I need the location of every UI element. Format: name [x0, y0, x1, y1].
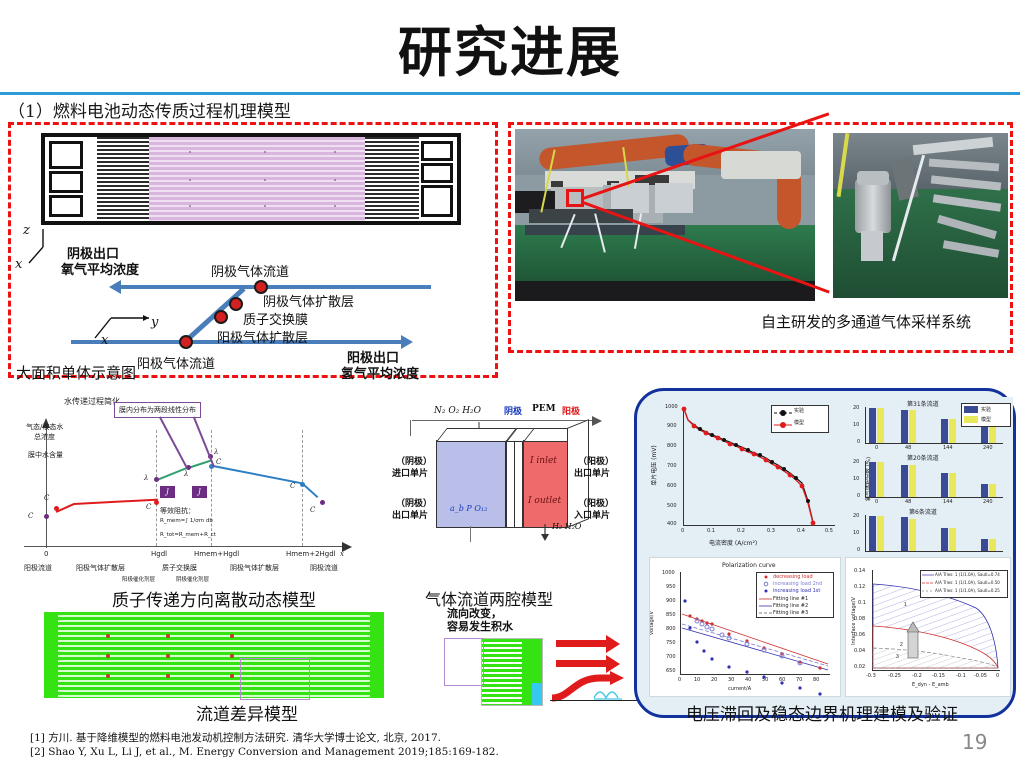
chart-cell-polarization: 1000 900 800 700 600 500 400 0 0.1 0.2 0…	[651, 399, 845, 551]
label-anode-channel: 阳极气体流道	[137, 353, 215, 372]
bar-chart-title-20: 第20条流道	[907, 453, 939, 462]
title-divider	[0, 92, 1020, 95]
water-region-anode-gdl: 阳极气体扩散层	[76, 563, 125, 573]
section-subtitle: （1）燃料电池动态传质过程机理模型	[8, 97, 291, 122]
water-gridline-mem-gdl	[211, 430, 212, 546]
bar-xtick-0-a: 0	[875, 445, 878, 451]
polcurve-legend-3: Fitting line #1	[773, 596, 808, 602]
polcurve-legend-1: increasing load 2nd	[773, 581, 822, 587]
water-chart-caption: 质子传递方向离散动态模型	[112, 586, 316, 611]
bar-chart-title-6: 第6条流道	[909, 507, 937, 516]
water-label-lambda4: λ	[214, 448, 218, 456]
water-point-c1	[154, 500, 159, 505]
chamber-left-bot-2: 出口单片	[392, 508, 428, 521]
axis-label-x-lower: x	[101, 333, 108, 348]
cell-inlet-manifold	[97, 137, 151, 221]
water-curve-membrane-2	[188, 460, 211, 469]
polcurve-legend-0: decreasing load	[773, 574, 813, 580]
water-label-csat-left: C	[28, 512, 33, 520]
node-anode-channel	[179, 335, 193, 349]
chart-oxygen-fraction-bars: 氧气体积分数 (%) 第31条流道 20 10 0 0 48 144 240 实…	[845, 397, 1013, 553]
reference-2: [2] Shao Y, Xu L, Li J, et al., M. Energ…	[30, 745, 499, 759]
chamber-cathode-face	[436, 440, 506, 528]
chamber-bottom-tick	[470, 526, 471, 542]
cell-port-left-3	[49, 195, 83, 217]
photo-zoom-region-box	[566, 189, 584, 207]
water-region-cathode-channel: 阴极流道	[310, 563, 338, 573]
chamber-i-outlet: I outlet	[528, 496, 561, 506]
flow-field-callout-frame	[444, 638, 484, 686]
water-label-lambda2: λ	[144, 474, 148, 482]
water-x-axis	[24, 546, 344, 547]
polcurve-legend-4: Fitting line #2	[773, 603, 808, 609]
gas-sampling-closeup-photo	[833, 133, 1008, 298]
water-label-c4: C	[290, 482, 295, 490]
cell-active-area	[149, 137, 367, 221]
chamber-outlet-arrow-icon	[590, 414, 604, 428]
water-xtick-hmem-2hgdl: Hmem+2Hgdl	[286, 550, 336, 558]
cell-port-left-1	[49, 141, 83, 169]
photo-caption: 自主研发的多通道气体采样系统	[761, 311, 971, 332]
chamber-inlet-line	[412, 420, 562, 421]
flow-field-diagram	[44, 612, 384, 698]
bar-xtick-0-b: 0	[875, 499, 878, 505]
water-label-c3: C	[216, 458, 221, 466]
chamber-inlet-drop	[410, 420, 411, 436]
chamber-right-top-2: 出口单片	[574, 466, 610, 479]
chamber-cathode-tag: 阴极	[504, 404, 522, 417]
two-chamber-model-diagram: N₂ O₂ H₂O 阴极 PEM 阳极 （阴极） 进口单片 （阴极） 出口单片 …	[392, 398, 622, 573]
water-annotation-box: 膜内分布为两段线性分布	[114, 402, 201, 418]
bar-xtick-240-a: 240	[983, 445, 993, 451]
chamber-cathode-top	[436, 428, 517, 442]
anode-flow-arrowhead	[401, 335, 413, 349]
page-title: 研究进展	[0, 8, 1020, 87]
label-cathode-outlet-line2: 氧气平均浓度	[61, 259, 139, 278]
label-cathode-gdl: 阴极气体扩散层	[263, 291, 354, 310]
label-anode-gdl: 阳极气体扩散层	[217, 327, 308, 346]
chart-polarization-hysteresis: Polarization curve 1000 950 900 850 800 …	[649, 557, 841, 697]
water-y-axis	[46, 426, 47, 548]
iv-legend-model: 模型	[794, 419, 804, 426]
cathode-flow-arrowhead	[109, 280, 121, 294]
axis-label-y: y	[151, 315, 158, 330]
cell-schematic-panel: z x y x 阴极出口 氧气平均浓度 阴极气体流道 阴极气体扩散层 质子交换膜…	[8, 122, 498, 378]
svg-text:3: 3	[896, 654, 899, 660]
water-region-anode-channel: 阳极流道	[24, 563, 52, 573]
schematic-caption: 大面积单体示意图	[16, 362, 136, 383]
chamber-gas-in-label: N₂ O₂ H₂O	[434, 406, 481, 416]
water-curve-membrane-1	[157, 467, 187, 480]
flow-field-left-header	[44, 612, 58, 698]
water-ylabel-2: 总浓度	[34, 432, 55, 442]
water-note-resistance-eq2: R_tot=R_mem+R_ct	[160, 532, 216, 538]
large-area-cell-drawing	[41, 133, 461, 225]
bar-xtick-48-a: 48	[905, 445, 911, 451]
water-point-lambda2	[154, 477, 159, 482]
water-xtick-hgdl: Hgdl	[151, 550, 167, 558]
cell-port-right-2	[421, 163, 453, 183]
cell-port-right-3	[421, 185, 453, 217]
bars-legend-exp: 实验	[981, 406, 991, 413]
polcurve-legend: decreasing load increasing load 2nd incr…	[756, 572, 834, 618]
chamber-note-line1: 流向改变，	[447, 607, 513, 620]
boundary-legend-2: A/A Tries: 1 (1/1.0A), Sauti=0.25	[935, 588, 1000, 593]
cell-outlet-manifold	[365, 137, 419, 221]
water-gridline-gdl-ch	[302, 430, 303, 546]
water-curve-cathode-b	[302, 483, 318, 497]
water-label-csat-right: C	[310, 506, 315, 514]
water-subregion-cathode-cl: 阴极催化剂层	[176, 575, 209, 583]
water-badge-j-eo: J	[160, 486, 175, 498]
water-subregion-anode-cl: 阳极催化剂层	[122, 575, 155, 583]
water-ylabel-3: 膜中水含量	[28, 450, 63, 460]
axis-yx-icon	[89, 300, 155, 346]
chamber-model-note: 流向改变， 容易发生积水	[447, 607, 513, 633]
flow-field-caption: 流道差异模型	[196, 700, 298, 725]
boundary-legend-0: A/A Tries: 1 (1/1.0A), Sauti=0.74	[935, 572, 1000, 577]
water-gridline-gdl-mem	[156, 430, 157, 546]
bar-chart-title-31: 第31条流道	[907, 399, 939, 408]
gas-sampling-photo-panel: 自主研发的多通道气体采样系统	[508, 122, 1013, 353]
bar-xtick-48-b: 48	[905, 499, 911, 505]
water-region-cathode-gdl: 阴极气体扩散层	[230, 563, 279, 573]
cell-port-left-2	[49, 171, 83, 193]
chamber-left-top-2: 进口单片	[392, 466, 428, 479]
results-panel: 1000 900 800 700 600 500 400 0 0.1 0.2 0…	[634, 388, 1016, 718]
flow-field-zoom-marker	[240, 658, 310, 700]
page-number: 19	[962, 730, 987, 754]
polcurve-legend-5: Fitting line #3	[773, 610, 808, 616]
references: [1] 方川. 基于降维模型的燃料电池发动机控制方法研究. 清华大学博士论文, …	[30, 731, 499, 759]
water-region-membrane: 质子交换膜	[162, 563, 197, 573]
water-leader-1	[159, 416, 188, 468]
water-point-csat-left	[44, 514, 49, 519]
axis-label-x-upper: x	[15, 257, 22, 272]
cell-port-right-1	[421, 141, 453, 161]
chamber-pem-tag: PEM	[532, 404, 556, 414]
chamber-gas-out-label: H₂ H₂O	[552, 522, 581, 531]
boundary-legend: A/A Tries: 1 (1/1.0A), Sauti=0.74 A/A Tr…	[920, 570, 1008, 598]
water-point-csat-right	[320, 500, 325, 505]
chamber-i-inlet: I inlet	[530, 456, 557, 466]
bars-legend-model: 模型	[981, 416, 991, 423]
node-membrane	[229, 297, 243, 311]
flow-field-corner-closeup	[481, 638, 543, 706]
chamber-cathode-formula: a_b P O₁₂	[450, 504, 487, 513]
water-note-resistance-title: 等效阻抗：	[160, 506, 195, 516]
chart-steady-boundary: 0.14 0.12 0.1 0.08 0.06 0.04 0.02 -0.3 -…	[845, 557, 1011, 697]
water-note-resistance-eq1: R_mem=∫ 1/σm db	[160, 518, 213, 524]
chamber-bottom-arrow-icon	[540, 524, 550, 542]
water-ylabel-1: 气态/液态水	[26, 422, 63, 432]
water-point-c4	[300, 482, 305, 487]
flow-field-channels	[44, 612, 384, 698]
water-badge-j-bd: J	[192, 486, 207, 498]
node-anode-gdl	[214, 310, 228, 324]
chamber-anode-face	[523, 440, 569, 528]
water-label-lambda3: λ	[184, 470, 188, 478]
iv-legend: 实验 模型	[771, 405, 829, 433]
flow-field-right-header	[370, 612, 384, 698]
chamber-note-line2: 容易发生积水	[447, 620, 513, 633]
label-cathode-channel: 阴极气体流道	[211, 261, 289, 280]
water-transport-chart: 水传递过程简化 气态/液态水 总浓度 膜中水含量 C C C λ λ λ C C…	[4, 386, 364, 586]
bar-xtick-144-a: 144	[943, 445, 953, 451]
results-panel-caption: 电压滞回及稳态边界机理建模及验证	[686, 700, 958, 725]
water-xtick-0: 0	[44, 550, 48, 558]
polcurve-legend-2: increasing load 1st	[773, 588, 820, 594]
bar-xtick-144-b: 144	[943, 499, 953, 505]
water-x-axis-symbol: x	[340, 550, 344, 558]
bar-xtick-240-b: 240	[983, 499, 993, 505]
water-label-c1: C	[146, 503, 151, 511]
cathode-flow-line	[121, 285, 431, 289]
svg-text:1: 1	[904, 602, 907, 608]
water-chart-title: 水传递过程简化	[64, 396, 120, 407]
iv-legend-exp: 实验	[794, 407, 804, 414]
bars-legend: 实验 模型	[961, 403, 1011, 427]
chamber-right-bot-2: 入口单片	[574, 508, 610, 521]
reference-1: [1] 方川. 基于降维模型的燃料电池发动机控制方法研究. 清华大学博士论文, …	[30, 731, 499, 745]
svg-text:2: 2	[900, 642, 903, 648]
water-label-c0: C	[44, 494, 49, 502]
label-anode-outlet-line2: 氢气平均浓度	[341, 363, 419, 382]
water-point-c0	[54, 506, 59, 511]
chamber-pem-plate-2	[514, 440, 523, 528]
water-xtick-hmem-hgdl: Hmem+Hgdl	[194, 550, 239, 558]
chamber-anode-tag: 阳极	[562, 404, 580, 417]
label-membrane: 质子交换膜	[243, 309, 308, 328]
axis-label-z: z	[23, 223, 30, 238]
boundary-legend-1: A/A Tries: 1 (1/1.0A), Sauti=0.50	[935, 580, 1000, 585]
test-bench-photo	[515, 129, 815, 301]
